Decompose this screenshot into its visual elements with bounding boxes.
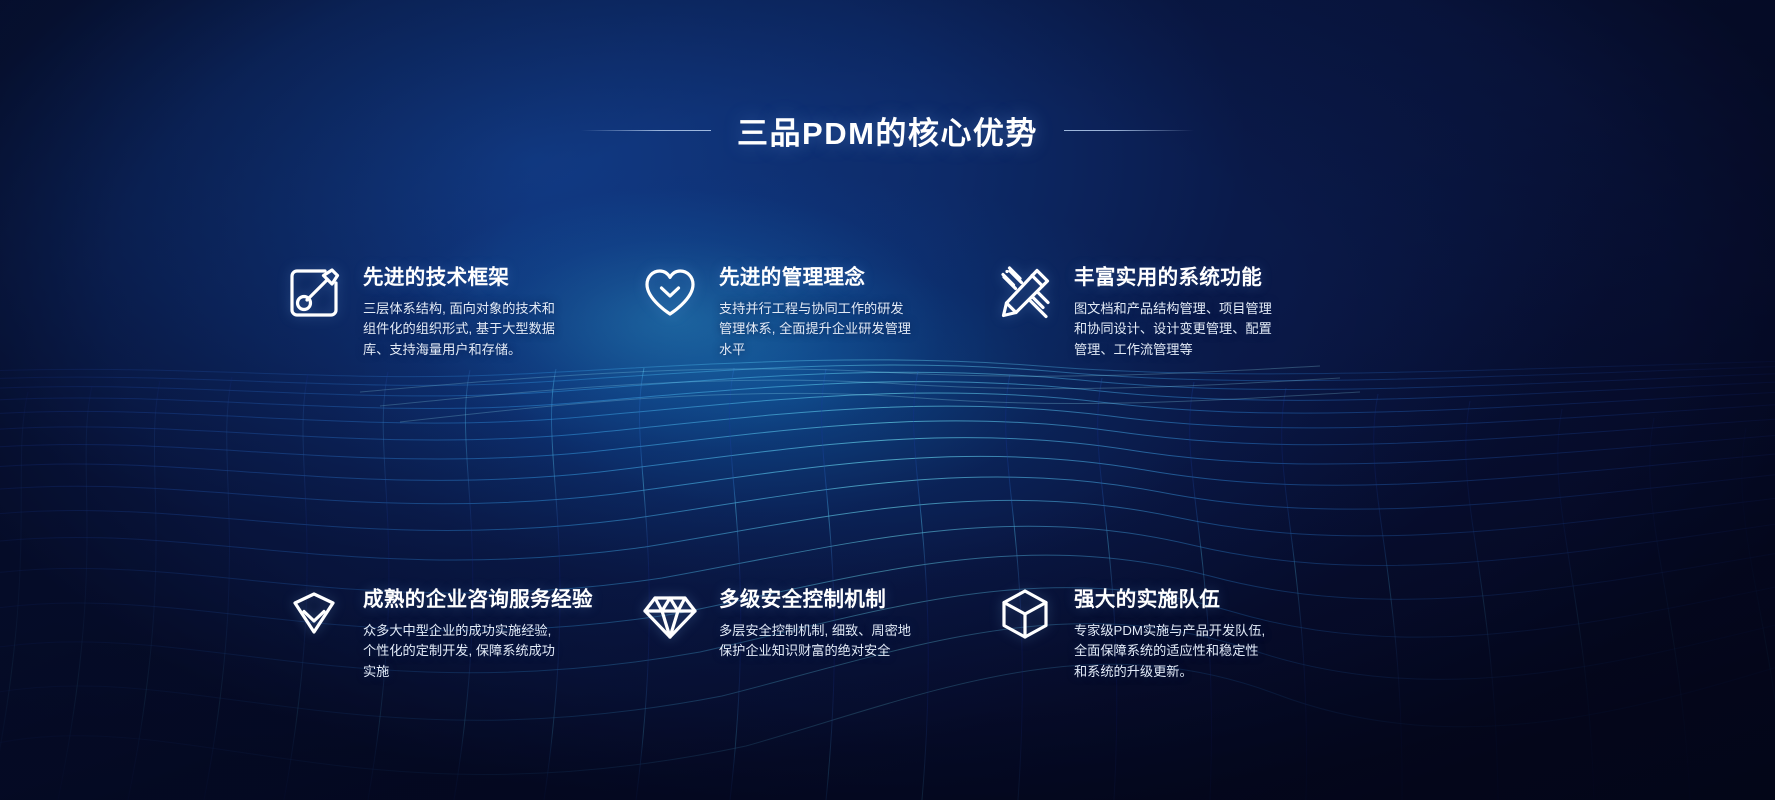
pencil-ruler-icon xyxy=(994,262,1056,324)
feature-text: 先进的技术框架 三层体系结构, 面向对象的技术和 组件化的组织形式, 基于大型数… xyxy=(363,258,555,360)
heart-icon xyxy=(639,262,701,324)
feature-text: 先进的管理理念 支持并行工程与协同工作的研发 管理体系, 全面提升企业研发管理 … xyxy=(719,258,911,360)
feature-description: 多层安全控制机制, 细致、周密地 保护企业知识财富的绝对安全 xyxy=(719,621,911,662)
feature-grid: 先进的技术框架 三层体系结构, 面向对象的技术和 组件化的组织形式, 基于大型数… xyxy=(283,258,1343,682)
feature-description: 专家级PDM实施与产品开发队伍, 全面保障系统的适应性和稳定性 和系统的升级更新… xyxy=(1074,621,1265,682)
feature-item-system-functions[interactable]: 丰富实用的系统功能 图文档和产品结构管理、项目管理 和协同设计、设计变更管理、配… xyxy=(994,258,1343,360)
feature-item-technical-framework[interactable]: 先进的技术框架 三层体系结构, 面向对象的技术和 组件化的组织形式, 基于大型数… xyxy=(283,258,639,360)
feature-item-consulting-experience[interactable]: 成熟的企业咨询服务经验 众多大中型企业的成功实施经验, 个性化的定制开发, 保障… xyxy=(283,580,639,682)
feature-heading: 多级安全控制机制 xyxy=(719,582,911,612)
feature-heading: 强大的实施队伍 xyxy=(1074,582,1265,612)
feature-heading: 成熟的企业咨询服务经验 xyxy=(363,582,593,612)
hero-banner: 三品PDM的核心优势 先进的技术框架 三层体系结构, 面向对象的 xyxy=(0,0,1775,800)
feature-text: 丰富实用的系统功能 图文档和产品结构管理、项目管理 和协同设计、设计变更管理、配… xyxy=(1074,258,1272,360)
feature-description: 图文档和产品结构管理、项目管理 和协同设计、设计变更管理、配置 管理、工作流管理… xyxy=(1074,299,1272,360)
feature-description: 众多大中型企业的成功实施经验, 个性化的定制开发, 保障系统成功 实施 xyxy=(363,621,593,682)
feature-heading: 先进的技术框架 xyxy=(363,260,555,290)
feature-text: 多级安全控制机制 多层安全控制机制, 细致、周密地 保护企业知识财富的绝对安全 xyxy=(719,580,911,662)
feature-item-security-control[interactable]: 多级安全控制机制 多层安全控制机制, 细致、周密地 保护企业知识财富的绝对安全 xyxy=(639,580,994,682)
feature-description: 三层体系结构, 面向对象的技术和 组件化的组织形式, 基于大型数据 库、支持海量… xyxy=(363,299,555,360)
feature-row-top: 先进的技术框架 三层体系结构, 面向对象的技术和 组件化的组织形式, 基于大型数… xyxy=(283,258,1343,360)
feature-heading: 丰富实用的系统功能 xyxy=(1074,260,1272,290)
title-rule-right xyxy=(1064,130,1194,131)
feature-item-implementation-team[interactable]: 强大的实施队伍 专家级PDM实施与产品开发队伍, 全面保障系统的适应性和稳定性 … xyxy=(994,580,1343,682)
section-title-block: 三品PDM的核心优势 xyxy=(0,108,1775,153)
cube-icon xyxy=(994,584,1056,646)
feature-description: 支持并行工程与协同工作的研发 管理体系, 全面提升企业研发管理 水平 xyxy=(719,299,911,360)
title-rule-left xyxy=(581,130,711,131)
shield-check-icon xyxy=(283,584,345,646)
row-spacer xyxy=(283,360,1343,580)
page-title: 三品PDM的核心优势 xyxy=(737,108,1038,153)
feature-text: 强大的实施队伍 专家级PDM实施与产品开发队伍, 全面保障系统的适应性和稳定性 … xyxy=(1074,580,1265,682)
feature-heading: 先进的管理理念 xyxy=(719,260,911,290)
feature-text: 成熟的企业咨询服务经验 众多大中型企业的成功实施经验, 个性化的定制开发, 保障… xyxy=(363,580,593,682)
diamond-icon xyxy=(639,584,701,646)
feature-row-bottom: 成熟的企业咨询服务经验 众多大中型企业的成功实施经验, 个性化的定制开发, 保障… xyxy=(283,580,1343,682)
feature-item-management-concept[interactable]: 先进的管理理念 支持并行工程与协同工作的研发 管理体系, 全面提升企业研发管理 … xyxy=(639,258,994,360)
pen-in-square-icon xyxy=(283,262,345,324)
